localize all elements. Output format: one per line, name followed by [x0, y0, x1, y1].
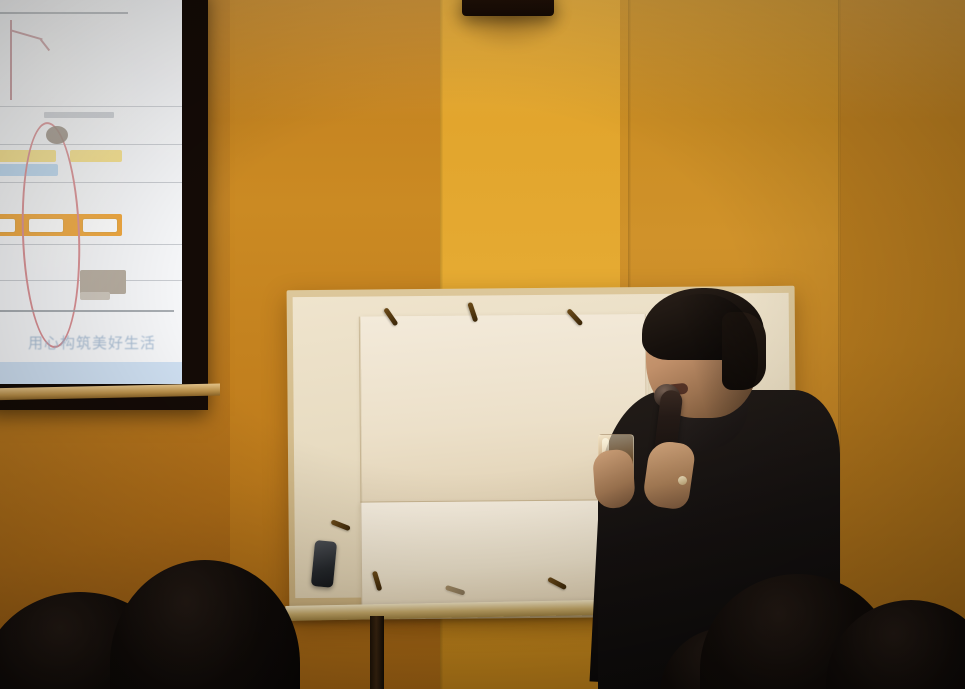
- slide-top-rule: [0, 12, 128, 14]
- slide-bottom-rule: [0, 310, 174, 312]
- slide-image-caption-block: [80, 292, 110, 300]
- ceiling-speaker-icon: [462, 0, 554, 16]
- slide-band-yellow-right: [70, 150, 122, 162]
- slide-caption: 用心构筑美好生活: [2, 332, 182, 353]
- projection-screen-surface: 用心构筑美好生活: [0, 0, 182, 384]
- presentation-photo-scene: 用心构筑美好生活: [0, 0, 965, 689]
- slide-footer-band: [0, 362, 182, 384]
- slide-grid-line-1: [0, 106, 182, 107]
- wall-panel-far-right: [840, 0, 965, 689]
- presenter-hair-side: [722, 312, 766, 390]
- presenter-hand-holding-cup: [592, 449, 636, 510]
- slide-chip-3: [82, 218, 118, 233]
- slide-stroke-vertical: [10, 20, 12, 100]
- presenter-ring: [678, 476, 687, 485]
- slide-grid-line-2: [0, 144, 182, 145]
- slide-stroke-diagonal-a: [11, 30, 42, 41]
- slide-chip-1: [0, 218, 16, 233]
- whiteboard-eraser: [311, 540, 337, 588]
- whiteboard-stand-post: [370, 616, 384, 689]
- slide-node-marker: [46, 126, 68, 144]
- magnet-4: [330, 519, 350, 531]
- slide-stroke-diagonal-b: [40, 39, 50, 51]
- slide-header-text: [44, 112, 114, 118]
- slide-image-block: [80, 270, 126, 294]
- projection-screen: 用心构筑美好生活: [0, 0, 208, 410]
- ceiling-speaker-shadow: [450, 10, 568, 50]
